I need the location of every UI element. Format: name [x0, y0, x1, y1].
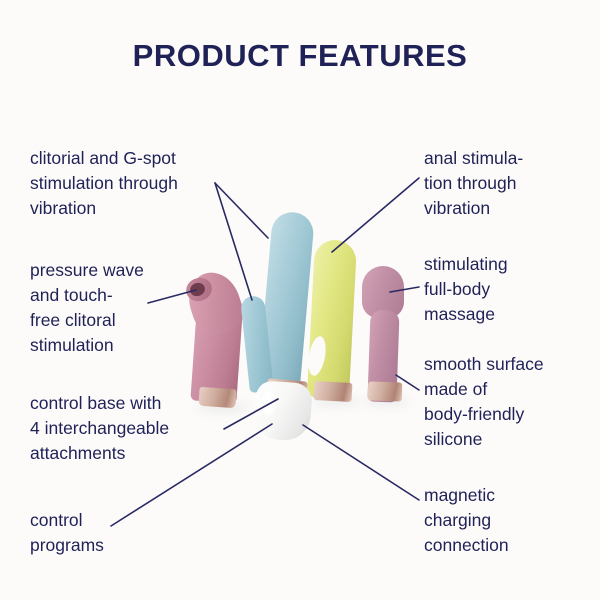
callout-anal-stimulation: anal stimula- tion through vibration: [424, 146, 589, 221]
callout-control-programs: control programs: [30, 508, 180, 558]
control-base-shell: [253, 380, 313, 442]
product-mauve-bulb-attachment: [362, 266, 414, 402]
callout-magnetic-charging: magnetic charging connection: [424, 483, 594, 558]
callout-clitoral-stimulation: clitorial and G-spot stimulation through…: [30, 146, 245, 221]
callout-smooth-surface: smooth surface made of body-friendly sil…: [424, 352, 594, 452]
control-base-highlight: [262, 390, 275, 416]
mauve-attachment-connector: [368, 381, 403, 401]
product-teal-rabbit-attachment: [243, 212, 311, 402]
callout-pressure-wave: pressure wave and touch- free clitoral s…: [30, 258, 210, 358]
product-white-control-base: [255, 382, 317, 444]
product-yellow-attachment: [308, 240, 360, 402]
callout-full-body-massage: stimulating full-body massage: [424, 252, 589, 327]
yellow-attachment-connector: [314, 381, 353, 402]
infographic-canvas: PRODUCT FEATURES: [0, 0, 600, 600]
callout-control-base: control base with 4 interchangeable atta…: [30, 391, 245, 466]
